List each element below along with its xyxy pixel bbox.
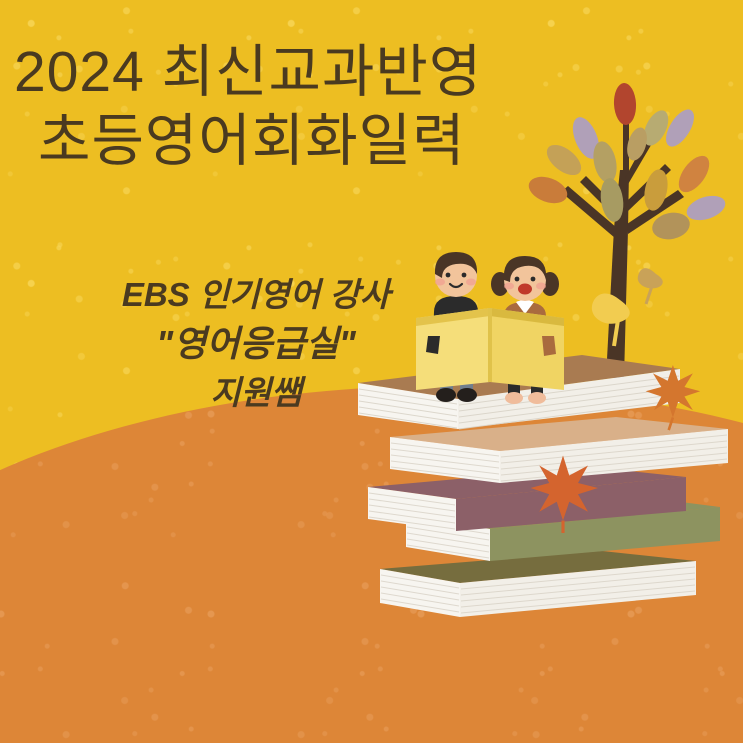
subtitle-line-2: "영어응급실" xyxy=(56,319,456,368)
girl-mouth xyxy=(518,284,532,295)
poster-canvas: 2024 최신교과반영 초등영어회화일력 EBS 인기영어 강사 "영어응급실"… xyxy=(0,0,743,743)
poster-subtitle: EBS 인기영어 강사 "영어응급실" 지원쌤 xyxy=(56,270,456,417)
title-line-1: 2024 최신교과반영 xyxy=(14,38,534,107)
girl-arm xyxy=(542,336,556,356)
title-line-2: 초등영어회화일력 xyxy=(14,107,534,176)
poster-title: 2024 최신교과반영 초등영어회화일력 xyxy=(14,38,534,176)
book-spine xyxy=(488,308,492,382)
subtitle-line-3: 지원쌤 xyxy=(56,368,456,417)
subtitle-line-1: EBS 인기영어 강사 xyxy=(56,270,456,319)
book-5-bottom xyxy=(380,551,696,617)
ginkgo-leaf-muted-icon xyxy=(638,268,663,304)
girl-shoe-left xyxy=(505,392,523,404)
girl-shoe-right xyxy=(528,392,546,404)
boy-shoe-right xyxy=(457,388,477,402)
